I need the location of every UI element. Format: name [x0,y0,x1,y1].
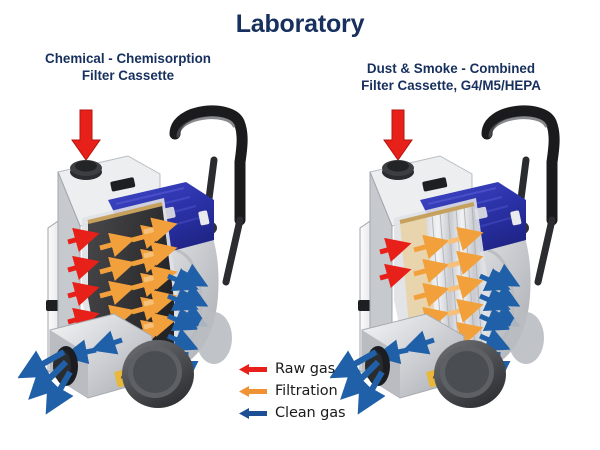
left-arrow-icon [238,362,268,377]
page-title: Laboratory [0,10,600,39]
left-arrow-icon [238,406,268,421]
panel-heading-dust-smoke: Dust & Smoke - Combined Filter Cassette,… [320,60,582,94]
raw-gas-arrow [384,110,412,160]
legend-item-clean-gas: Clean gas [238,402,378,424]
legend-item-raw-gas: Raw gas [238,358,378,380]
left-arrow-icon [238,384,268,399]
slide-canvas: Laboratory Chemical - Chemisorption Filt… [0,0,600,450]
legend-label-clean-gas: Clean gas [275,405,346,421]
legend-label-filtration: Filtration [275,383,338,399]
raw-gas-inlet-port [70,160,102,180]
raw-gas-inlet-port [382,160,414,180]
front-wheel [434,340,506,408]
raw-gas-arrow [72,110,100,160]
legend-label-raw-gas: Raw gas [275,361,335,377]
legend-item-filtration: Filtration [238,380,378,402]
rear-wheel [508,312,544,364]
panel-heading-chemical: Chemical - Chemisorption Filter Cassette [8,50,248,84]
rear-wheel [196,312,232,364]
front-wheel [122,340,194,408]
flow-legend: Raw gas Filtration Clean gas [238,358,378,424]
